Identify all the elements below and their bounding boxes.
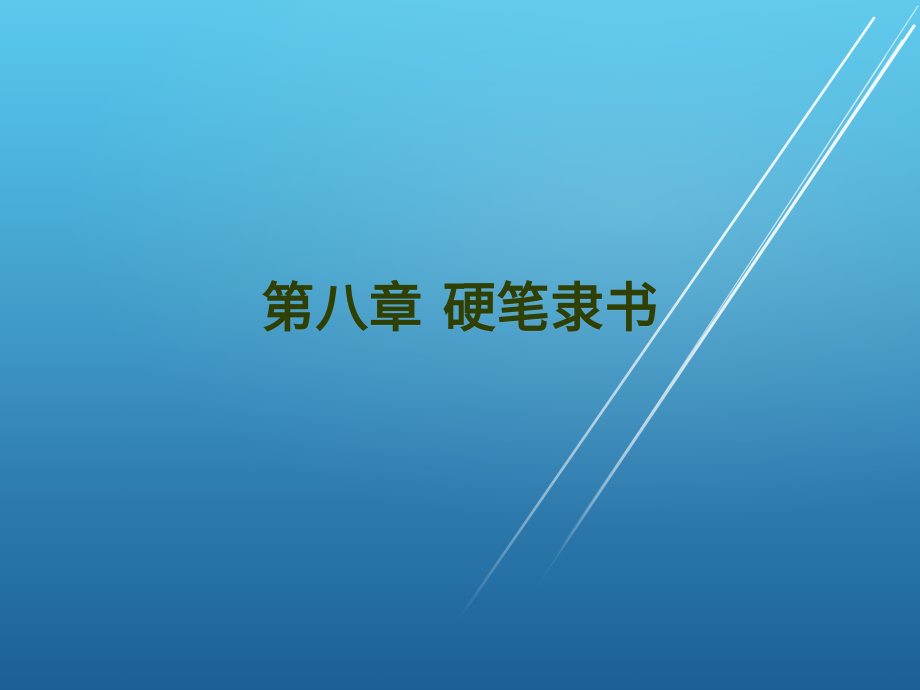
slide-canvas: 第八章 硬笔隶书 [0,0,920,690]
slide-title: 第八章 硬笔隶书 [261,278,658,340]
background-sheen [0,0,920,690]
title-block: 第八章 硬笔隶书 [0,278,920,340]
streak-line-1 [600,6,918,492]
diagonal-streaks-decoration [0,0,920,690]
